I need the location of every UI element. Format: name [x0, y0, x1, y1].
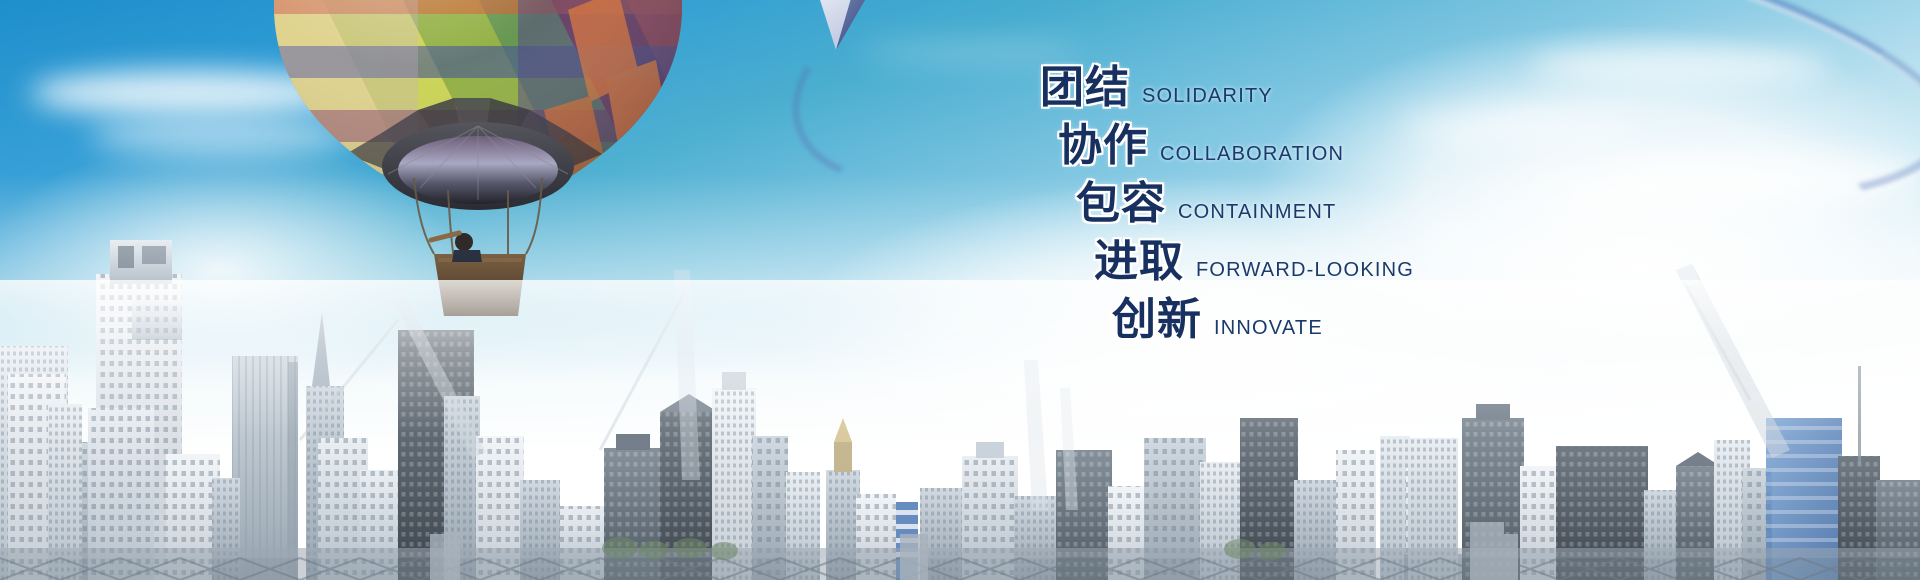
slogan-en-containment: CONTAINMENT: [1178, 202, 1336, 222]
slogan-row-forward-looking: 进取 FORWARD-LOOKING: [1094, 240, 1600, 284]
skyline-right: [1380, 366, 1920, 580]
construction-crane: [1676, 264, 1790, 458]
slogan-cn-forward-looking: 进取: [1094, 240, 1184, 284]
skyline-left: [0, 240, 368, 580]
slogan-row-collaboration: 协作 COLLABORATION: [1058, 124, 1600, 168]
slogan-cn-collaboration: 协作: [1058, 124, 1148, 168]
slogan-cn-containment: 包容: [1076, 182, 1166, 226]
slogan-list: 团结 SOLIDARITY 协作 COLLABORATION 包容 CONTAI…: [1040, 66, 1600, 356]
slogan-en-innovate: INNOVATE: [1214, 318, 1323, 338]
city-skyline: [0, 150, 1920, 580]
slogan-en-forward-looking: FORWARD-LOOKING: [1196, 260, 1414, 280]
slogan-row-solidarity: 团结 SOLIDARITY: [1040, 66, 1600, 110]
culture-banner: 团结 SOLIDARITY 协作 COLLABORATION 包容 CONTAI…: [0, 0, 1920, 580]
slogan-en-collaboration: COLLABORATION: [1160, 144, 1344, 164]
slogan-row-innovate: 创新 INNOVATE: [1112, 298, 1600, 342]
slogan-row-containment: 包容 CONTAINMENT: [1076, 182, 1600, 226]
slogan-cn-solidarity: 团结: [1040, 66, 1130, 110]
paper-airplane-icon: [800, 0, 920, 58]
slogan-cn-innovate: 创新: [1112, 298, 1202, 342]
slogan-en-solidarity: SOLIDARITY: [1142, 86, 1273, 106]
